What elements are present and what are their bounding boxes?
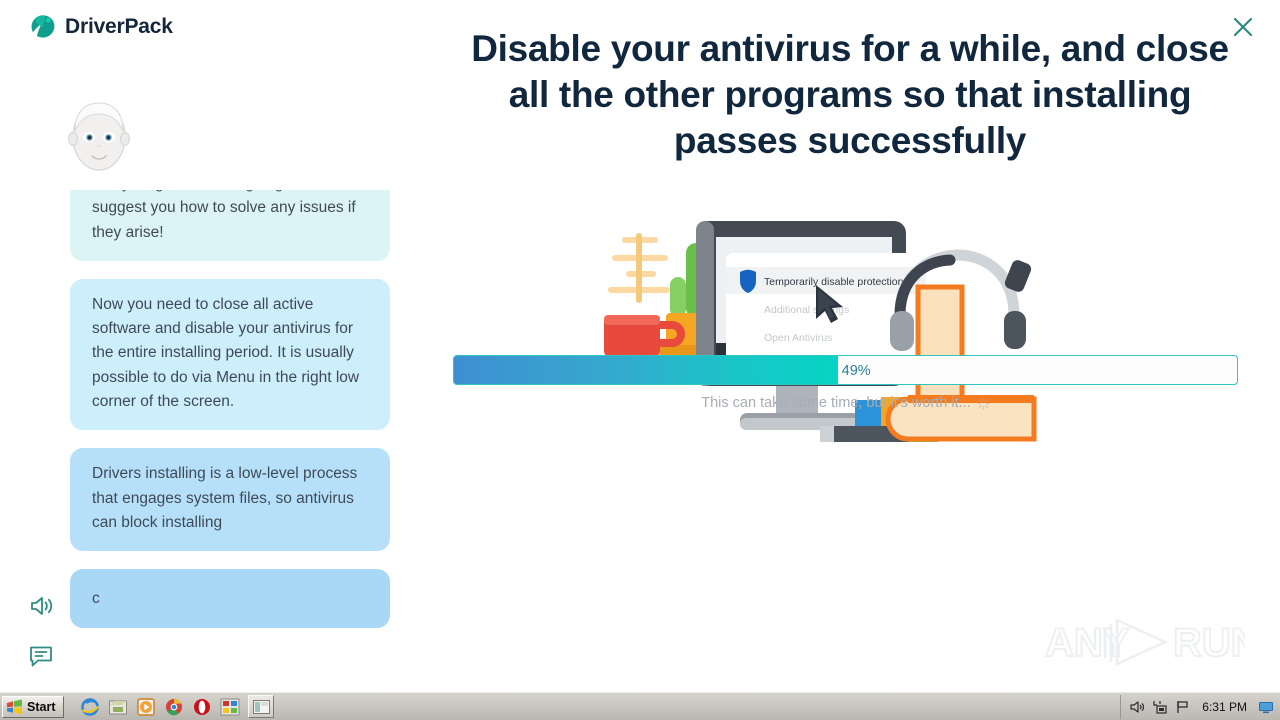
plant-sprig bbox=[608, 233, 670, 303]
progress-section: 49% This can take some time, but it's wo… bbox=[453, 355, 1238, 385]
brand-name: DriverPack bbox=[65, 15, 173, 39]
loading-spinner-icon bbox=[977, 397, 990, 410]
chrome-icon[interactable] bbox=[164, 697, 184, 717]
chat-bubble: everything that will be going on, and wi… bbox=[70, 190, 390, 261]
driverpack-window-task[interactable] bbox=[248, 695, 274, 718]
file-explorer-icon[interactable] bbox=[108, 697, 128, 717]
chat-bubble-text: Drivers installing is a low-level proces… bbox=[92, 465, 357, 531]
flag-tray-icon[interactable] bbox=[1175, 699, 1191, 715]
chat-bubble-text: c bbox=[92, 590, 100, 607]
driverpack-installer-window: DriverPack everything that will be going… bbox=[0, 0, 1280, 720]
tray-clock[interactable]: 6:31 PM bbox=[1202, 700, 1247, 714]
chat-bubble-text: everything that will be going on, and wi… bbox=[92, 190, 365, 241]
chat-bubble-text: Now you need to close all active softwar… bbox=[92, 296, 359, 410]
progress-note-text: This can take some time, but it's worth … bbox=[701, 395, 971, 411]
chat-bubble: c bbox=[70, 569, 390, 627]
assistant-avatar-face bbox=[68, 97, 130, 173]
taskbar: Start bbox=[0, 692, 1280, 720]
windows-flag-icon bbox=[6, 699, 23, 715]
volume-tray-icon[interactable] bbox=[1129, 699, 1145, 715]
progress-bar: 49% bbox=[453, 355, 1238, 385]
sound-icon[interactable] bbox=[28, 593, 54, 619]
progress-note: This can take some time, but it's worth … bbox=[453, 395, 1238, 411]
driverpack-task-icon[interactable] bbox=[220, 697, 240, 717]
quick-launch-bar bbox=[80, 695, 274, 718]
start-button[interactable]: Start bbox=[2, 696, 64, 718]
internet-explorer-icon[interactable] bbox=[80, 697, 100, 717]
progress-percent-label: 49% bbox=[838, 356, 871, 385]
opera-icon[interactable] bbox=[192, 697, 212, 717]
network-tray-icon[interactable] bbox=[1152, 699, 1168, 715]
media-player-icon[interactable] bbox=[136, 697, 156, 717]
menu-item-2-label: Open Antivirus bbox=[764, 332, 832, 344]
assistant-panel: DriverPack everything that will be going… bbox=[0, 0, 420, 692]
page-title: Disable your antivirus for a while, and … bbox=[450, 26, 1250, 164]
brand: DriverPack bbox=[30, 14, 173, 40]
progress-bar-fill bbox=[454, 356, 838, 384]
start-button-label: Start bbox=[27, 700, 55, 714]
chat-messages-list[interactable]: everything that will be going on, and wi… bbox=[70, 190, 390, 652]
menu-item-0-label: Temporarily disable protection bbox=[764, 276, 904, 288]
driverpack-window-icon bbox=[253, 700, 270, 714]
chat-bubble: Now you need to close all active softwar… bbox=[70, 279, 390, 430]
chat-icon[interactable] bbox=[28, 643, 54, 669]
chat-bubble: Drivers installing is a low-level proces… bbox=[70, 448, 390, 551]
main-panel: Disable your antivirus for a while, and … bbox=[420, 0, 1280, 692]
driverpack-swirl-logo bbox=[30, 14, 56, 40]
sidebar-icons bbox=[28, 593, 54, 669]
system-tray: 6:31 PM bbox=[1120, 695, 1278, 719]
show-desktop-icon[interactable] bbox=[1258, 699, 1274, 715]
antivirus-tray-menu-illustration: Temporarily disable protection Additiona… bbox=[600, 215, 1100, 470]
